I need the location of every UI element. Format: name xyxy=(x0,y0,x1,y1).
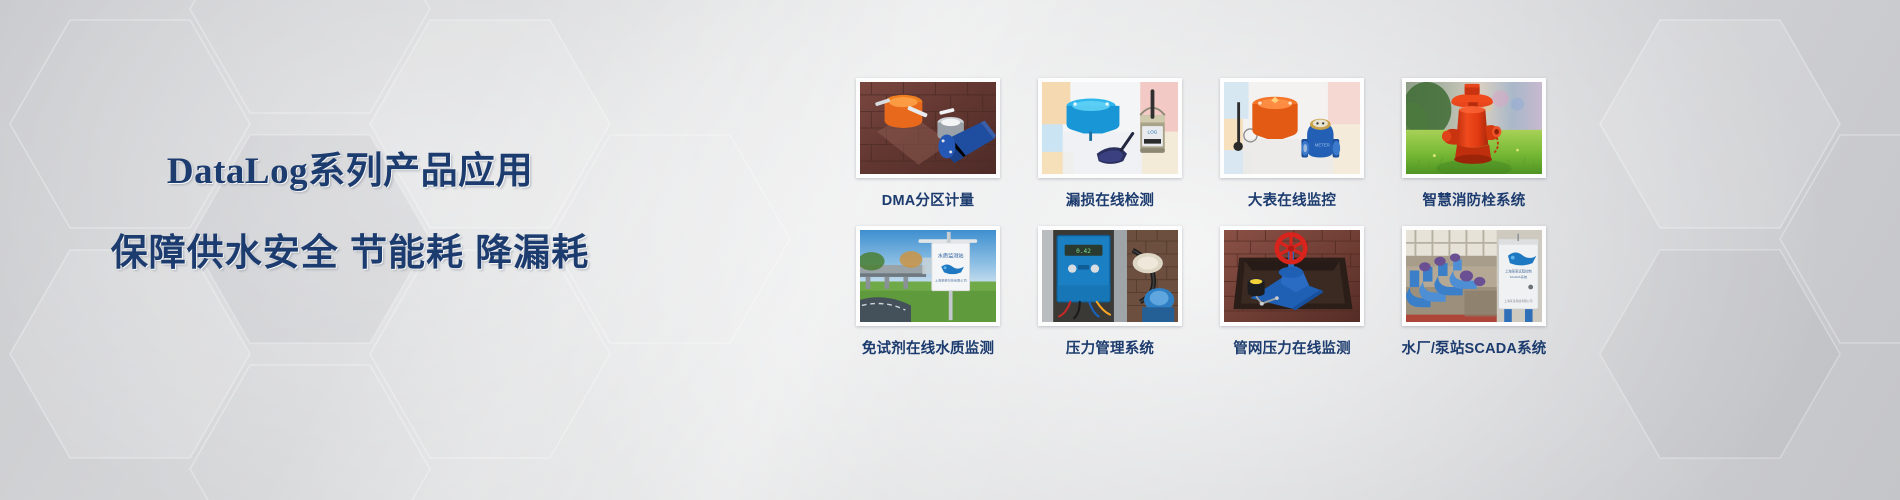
thumbnail-frame: 水质监测站 上海某某科技有限公司 xyxy=(856,226,1000,326)
svg-text:水质监测站: 水质监测站 xyxy=(938,253,964,260)
svg-text:上海某某科技有限公司: 上海某某科技有限公司 xyxy=(1504,299,1532,303)
product-caption: 水厂/泵站SCADA系统 xyxy=(1402,337,1547,358)
product-caption: DMA分区计量 xyxy=(882,189,974,210)
product-card[interactable]: DMA分区计量 xyxy=(856,78,1000,210)
pump-station-scada-illustration: 上海某某远程控制 SCADA系统 上海某某科技有限公司 xyxy=(1406,230,1542,322)
product-card[interactable]: 管网压力在线监测 xyxy=(1220,226,1364,358)
product-card[interactable]: 智慧消防栓系统 xyxy=(1402,78,1546,210)
thumbnail-frame xyxy=(1402,78,1546,178)
thumbnail-frame: 上海某某远程控制 SCADA系统 上海某某科技有限公司 xyxy=(1402,226,1546,326)
water-quality-station-illustration: 水质监测站 上海某某科技有限公司 xyxy=(860,230,996,322)
product-card[interactable]: METER 大表在线监控 xyxy=(1220,78,1364,210)
waterworks-pumping-scada-photo: 上海某某远程控制 SCADA系统 上海某某科技有限公司 xyxy=(1406,230,1542,322)
thumbnail-frame xyxy=(1220,226,1364,326)
svg-text:0.42: 0.42 xyxy=(1076,248,1091,255)
dma-metering-valve-photo xyxy=(860,82,996,174)
dma-metering-valve-illustration xyxy=(860,82,996,174)
product-caption: 压力管理系统 xyxy=(1066,337,1154,358)
banner-root: DataLog系列产品应用 保障供水安全 节能耗 降漏耗 xyxy=(0,0,1900,500)
thumbnail-frame: METER xyxy=(1220,78,1364,178)
product-card[interactable]: 上海某某远程控制 SCADA系统 上海某某科技有限公司 水厂/泵站SCADA系统 xyxy=(1402,226,1546,358)
smart-fire-hydrant-photo xyxy=(1406,82,1542,174)
product-caption: 智慧消防栓系统 xyxy=(1423,189,1526,210)
smart-fire-hydrant-illustration xyxy=(1406,82,1542,174)
pressure-management-cabinet-illustration: 0.42 xyxy=(1042,230,1178,322)
headline-secondary: 保障供水安全 节能耗 降漏耗 xyxy=(0,222,700,276)
product-caption: 管网压力在线监测 xyxy=(1233,337,1351,358)
pipeline-pressure-monitoring-photo xyxy=(1224,230,1360,322)
thumbnail-frame xyxy=(856,78,1000,178)
thumbnail-frame: LOG xyxy=(1038,78,1182,178)
product-caption: 漏损在线检测 xyxy=(1066,189,1154,210)
headline-block: DataLog系列产品应用 保障供水安全 节能耗 降漏耗 xyxy=(0,140,700,276)
thumbnail-frame: 0.42 xyxy=(1038,226,1182,326)
product-caption: 免试剂在线水质监测 xyxy=(862,337,994,358)
product-card[interactable]: 水质监测站 上海某某科技有限公司 免试剂在线水质监测 xyxy=(856,226,1000,358)
bulk-meter-monitoring-illustration: METER xyxy=(1224,82,1360,174)
svg-text:METER: METER xyxy=(1315,142,1330,147)
bulk-meter-monitoring-photo: METER xyxy=(1224,82,1360,174)
leak-detection-logger-photo: LOG xyxy=(1042,82,1178,174)
product-application-grid: DMA分区计量 xyxy=(856,78,1556,358)
leak-detection-logger-illustration: LOG xyxy=(1042,82,1178,174)
svg-text:上海某某科技有限公司: 上海某某科技有限公司 xyxy=(935,278,967,283)
reagent-free-water-quality-station-photo: 水质监测站 上海某某科技有限公司 xyxy=(860,230,996,322)
product-card[interactable]: 0.42 xyxy=(1038,226,1182,358)
pipeline-pressure-monitoring-illustration xyxy=(1224,230,1360,322)
pressure-management-cabinet-photo: 0.42 xyxy=(1042,230,1178,322)
svg-text:上海某某远程控制: 上海某某远程控制 xyxy=(1505,268,1533,273)
svg-text:SCADA系统: SCADA系统 xyxy=(1510,274,1528,279)
headline-primary: DataLog系列产品应用 xyxy=(0,140,700,194)
product-caption: 大表在线监控 xyxy=(1248,189,1336,210)
product-card[interactable]: LOG 漏损在线检测 xyxy=(1038,78,1182,210)
svg-text:LOG: LOG xyxy=(1148,130,1158,135)
